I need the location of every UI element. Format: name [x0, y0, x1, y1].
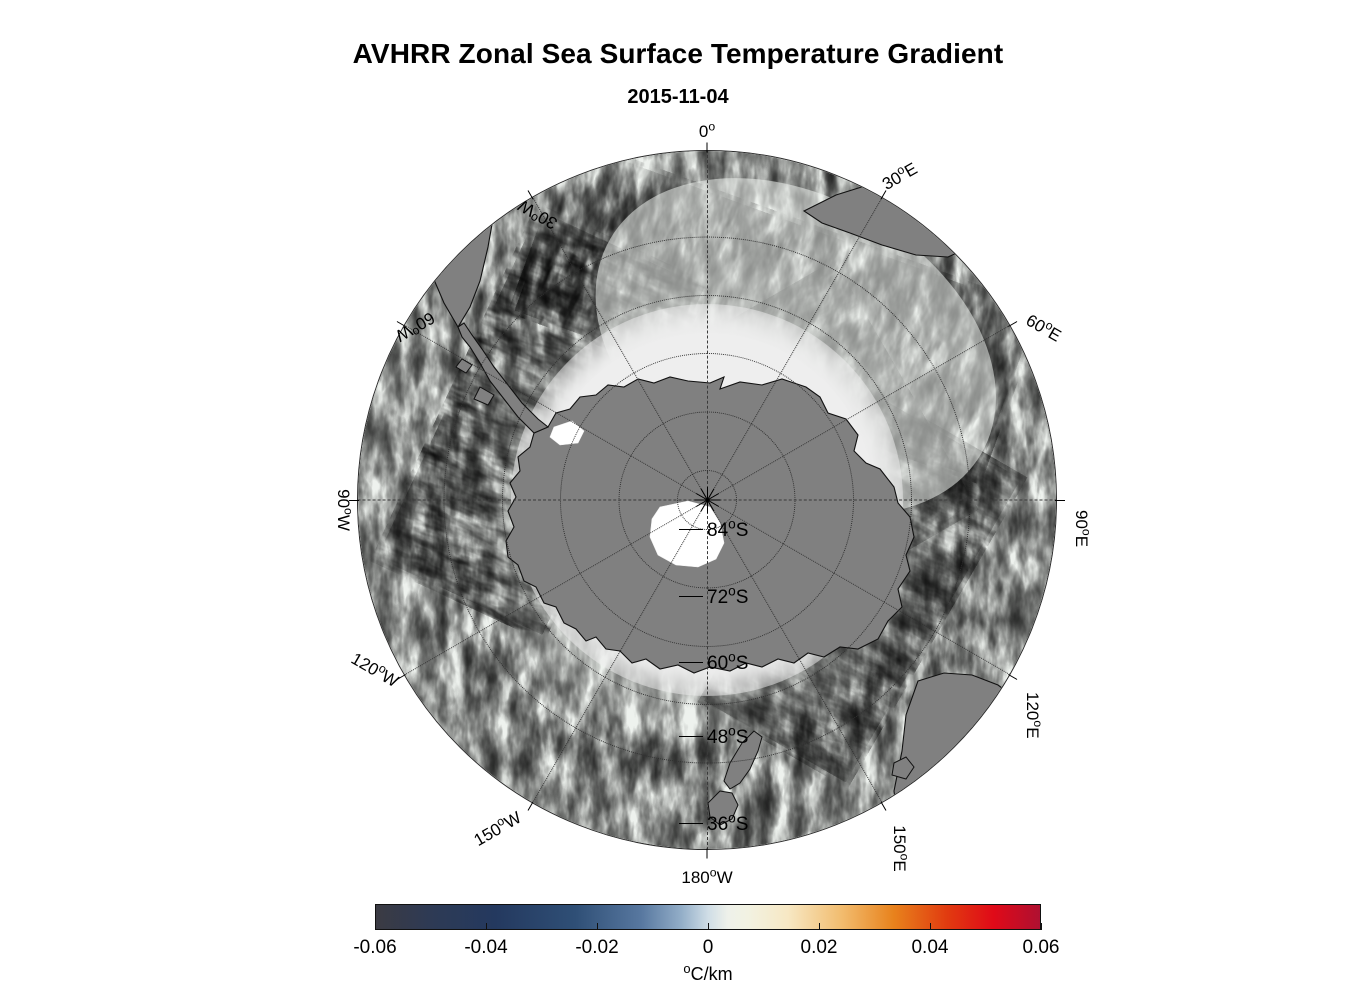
lat-label-48: 48oS	[707, 727, 748, 749]
lat-tick-84	[679, 529, 703, 530]
lat-label-36: 36oS	[707, 814, 748, 836]
lat-label-60: 60oS	[707, 653, 748, 675]
lon-label-0: 0o	[699, 122, 715, 142]
figure-canvas: AVHRR Zonal Sea Surface Temperature Grad…	[0, 0, 1356, 1000]
lon-tick-90E	[1055, 500, 1065, 501]
colorbar-unit-label: oC/km	[375, 964, 1041, 985]
colorbar-tick-label: -0.06	[353, 937, 396, 959]
lon-label-120E: 120oE	[1022, 692, 1042, 739]
lon-label-90W: 90oW	[333, 489, 353, 531]
colorbar-ticks	[375, 930, 1041, 937]
lat-tick-48	[679, 736, 703, 737]
colorbar-tick-label: -0.02	[575, 937, 618, 959]
lat-tick-72	[679, 596, 703, 597]
colorbar-tick-label: 0.02	[801, 937, 838, 959]
colorbar-tick-labels: -0.06 -0.04 -0.02 0 0.02 0.04 0.06	[375, 937, 1041, 961]
colorbar: -0.06 -0.04 -0.02 0 0.02 0.04 0.06 oC/km	[375, 904, 1041, 930]
colorbar-tick-label: 0.06	[1023, 937, 1060, 959]
lat-label-72: 72oS	[707, 587, 748, 609]
page-title: AVHRR Zonal Sea Surface Temperature Grad…	[0, 38, 1356, 70]
lon-label-180W: 180oW	[681, 868, 732, 888]
page-subtitle: 2015-11-04	[0, 86, 1356, 109]
lat-tick-36	[679, 823, 703, 824]
lat-label-84: 84oS	[707, 520, 748, 542]
lon-label-90E: 90oE	[1071, 510, 1091, 547]
polar-map: 84oS 72oS 60oS 48oS 36oS 0o	[357, 150, 1057, 850]
lon-tick-180W	[707, 849, 708, 859]
lon-label-150E: 150oE	[889, 825, 909, 872]
colorbar-tick-label: 0	[703, 937, 714, 959]
lat-tick-60	[679, 662, 703, 663]
south-pole-marker	[694, 487, 720, 513]
colorbar-tick-label: 0.04	[911, 937, 948, 959]
lon-tick-0	[707, 143, 708, 153]
colorbar-tick-label: -0.04	[464, 937, 507, 959]
